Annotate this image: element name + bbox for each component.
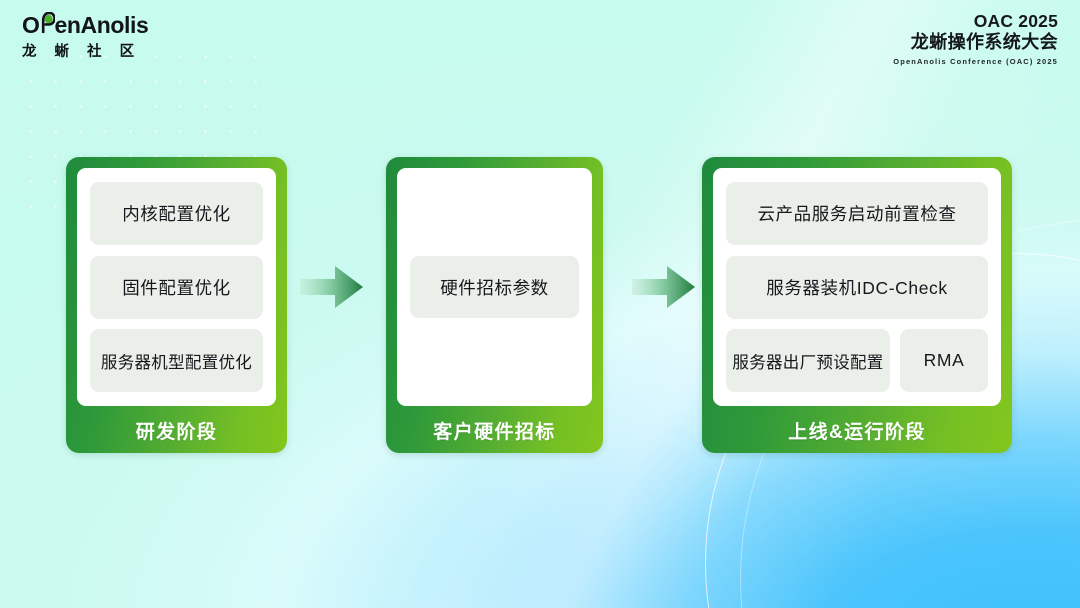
stage-2-footer-label: 客户硬件招标 [386,407,603,453]
logo-word-suffix: enAnolis [55,13,149,37]
stage-3-item-4[interactable]: RMA [900,329,988,392]
stage-3-item-row: 服务器出厂预设配置 RMA [726,329,988,392]
stage-card-research[interactable]: 内核配置优化 固件配置优化 服务器机型配置优化 研发阶段 [66,157,287,453]
openanolis-logo: O enAnolis 龙 蜥 社 区 [22,12,172,61]
logo-subtitle: 龙 蜥 社 区 [22,40,172,61]
conference-name-zh: 龙蜥操作系统大会 [893,32,1058,54]
stage-3-item-2[interactable]: 服务器装机IDC-Check [726,256,988,319]
stage-1-items: 内核配置优化 固件配置优化 服务器机型配置优化 [77,168,276,406]
conference-branding: OAC 2025 龙蜥操作系统大会 OpenAnolis Conference … [893,11,1058,66]
stage-card-bidding[interactable]: 硬件招标参数 客户硬件招标 [386,157,603,453]
stage-3-footer-label: 上线&运行阶段 [702,407,1012,453]
stage-3-item-3[interactable]: 服务器出厂预设配置 [726,329,890,392]
stage-2-item-1[interactable]: 硬件招标参数 [410,256,579,318]
stage-1-item-1[interactable]: 内核配置优化 [90,182,263,245]
stage-3-items: 云产品服务启动前置检查 服务器装机IDC-Check 服务器出厂预设配置 RMA [713,168,1001,406]
stage-1-item-2[interactable]: 固件配置优化 [90,256,263,319]
stage-1-item-3[interactable]: 服务器机型配置优化 [90,329,263,392]
conference-name-en: OAC 2025 [893,11,1058,31]
slide-canvas: O enAnolis 龙 蜥 社 区 OAC 2025 龙蜥操作系统大会 Ope… [0,0,1080,608]
stage-card-deployment[interactable]: 云产品服务启动前置检查 服务器装机IDC-Check 服务器出厂预设配置 RMA… [702,157,1012,453]
conference-full-name: OpenAnolis Conference (OAC) 2025 [893,57,1058,66]
logo-word-prefix: O [22,13,40,37]
arrow-stage-1-to-2 [300,264,364,310]
logo-wordmark: O enAnolis [22,12,172,37]
anolis-leaf-icon [40,12,55,32]
arrow-stage-2-to-3 [632,264,696,310]
stage-2-items: 硬件招标参数 [397,168,592,406]
stage-3-item-1[interactable]: 云产品服务启动前置检查 [726,182,988,245]
stage-1-footer-label: 研发阶段 [66,407,287,453]
